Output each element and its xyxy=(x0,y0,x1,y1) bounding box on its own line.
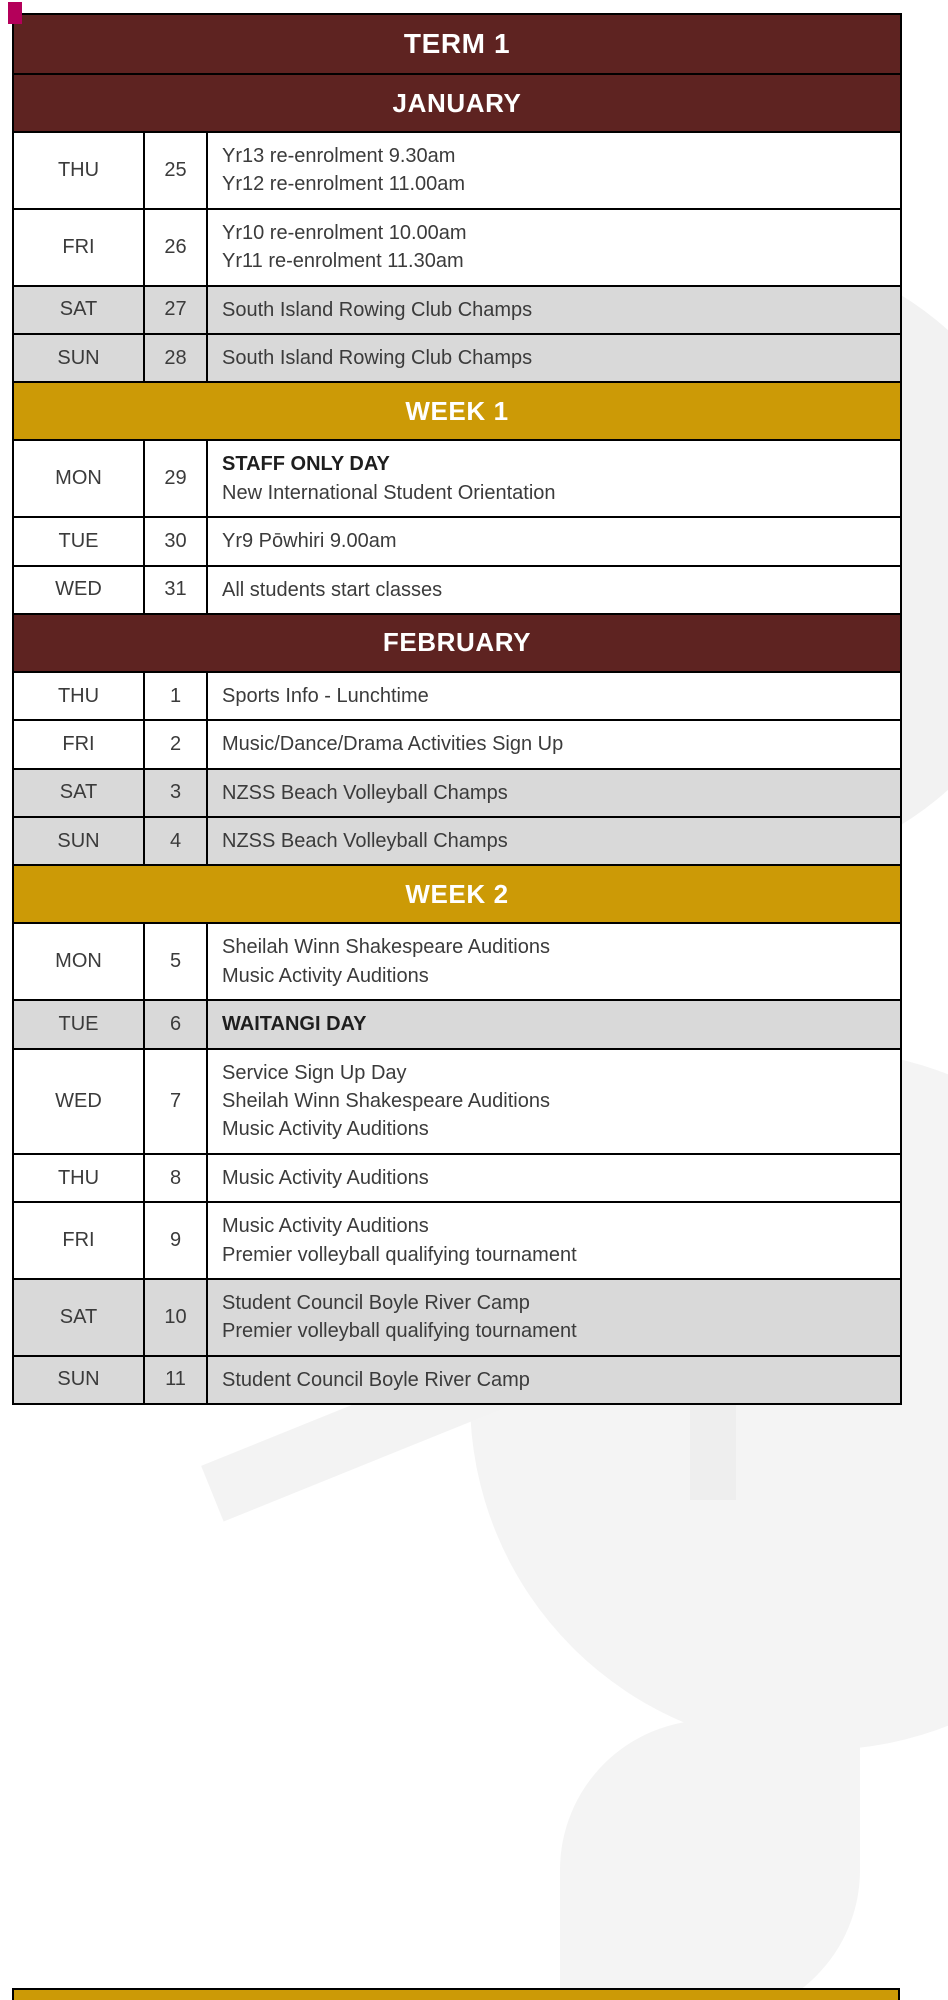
events-cell: NZSS Beach Volleyball Champs xyxy=(207,817,901,865)
term-header-row: TERM 1 xyxy=(13,14,901,74)
event-line: Music Activity Auditions xyxy=(222,1164,900,1192)
event-line: Student Council Boyle River Camp xyxy=(222,1366,900,1394)
week-label: WEEK 1 xyxy=(13,382,901,440)
calendar-day-row: SUN28South Island Rowing Club Champs xyxy=(13,334,901,382)
event-line: Music Activity Auditions xyxy=(222,1115,900,1143)
date-number-cell: 7 xyxy=(144,1049,207,1154)
event-line: Sports Info - Lunchtime xyxy=(222,682,900,710)
watermark-swoosh xyxy=(560,1720,860,2000)
date-number-cell: 4 xyxy=(144,817,207,865)
events-cell: NZSS Beach Volleyball Champs xyxy=(207,769,901,817)
event-line: Music/Dance/Drama Activities Sign Up xyxy=(222,730,900,758)
date-number-cell: 5 xyxy=(144,923,207,1000)
month-label: JANUARY xyxy=(13,74,901,132)
calendar-day-row: TUE6WAITANGI DAY xyxy=(13,1000,901,1048)
date-number-cell: 11 xyxy=(144,1356,207,1404)
calendar-day-row: FRI2Music/Dance/Drama Activities Sign Up xyxy=(13,720,901,768)
calendar-day-row: SAT10Student Council Boyle River CampPre… xyxy=(13,1279,901,1356)
event-line: STAFF ONLY DAY xyxy=(222,450,900,478)
date-number-cell: 26 xyxy=(144,209,207,286)
month-header-row: JANUARY xyxy=(13,74,901,132)
calendar-day-row: THU25Yr13 re-enrolment 9.30amYr12 re-enr… xyxy=(13,132,901,209)
events-cell: Yr10 re-enrolment 10.00amYr11 re-enrolme… xyxy=(207,209,901,286)
events-cell: Student Council Boyle River Camp xyxy=(207,1356,901,1404)
calendar-table-wrapper: TERM 1 JANUARYTHU25Yr13 re-enrolment 9.3… xyxy=(12,13,900,1405)
event-line: Premier volleyball qualifying tournament xyxy=(222,1241,900,1269)
event-line: Sheilah Winn Shakespeare Auditions xyxy=(222,933,900,961)
day-of-week-cell: THU xyxy=(13,1154,144,1202)
day-of-week-cell: FRI xyxy=(13,209,144,286)
calendar-day-row: WED31All students start classes xyxy=(13,566,901,614)
event-line: WAITANGI DAY xyxy=(222,1010,900,1038)
events-cell: Yr9 Pōwhiri 9.00am xyxy=(207,517,901,565)
corner-marker xyxy=(8,2,22,24)
day-of-week-cell: TUE xyxy=(13,517,144,565)
day-of-week-cell: SUN xyxy=(13,817,144,865)
date-number-cell: 9 xyxy=(144,1202,207,1279)
event-line: Yr9 Pōwhiri 9.00am xyxy=(222,527,900,555)
date-number-cell: 6 xyxy=(144,1000,207,1048)
calendar-day-row: SAT3NZSS Beach Volleyball Champs xyxy=(13,769,901,817)
calendar-day-row: FRI9Music Activity AuditionsPremier voll… xyxy=(13,1202,901,1279)
event-line: All students start classes xyxy=(222,576,900,604)
term-title: TERM 1 xyxy=(13,14,901,74)
events-cell: South Island Rowing Club Champs xyxy=(207,334,901,382)
month-label: FEBRUARY xyxy=(13,614,901,672)
calendar-day-row: THU1Sports Info - Lunchtime xyxy=(13,672,901,720)
calendar-page: TERM 1 JANUARYTHU25Yr13 re-enrolment 9.3… xyxy=(0,0,948,2000)
date-number-cell: 1 xyxy=(144,672,207,720)
day-of-week-cell: MON xyxy=(13,923,144,1000)
event-line: New International Student Orientation xyxy=(222,479,900,507)
event-line: NZSS Beach Volleyball Champs xyxy=(222,779,900,807)
day-of-week-cell: SAT xyxy=(13,1279,144,1356)
event-line: South Island Rowing Club Champs xyxy=(222,296,900,324)
date-number-cell: 25 xyxy=(144,132,207,209)
month-header-row: FEBRUARY xyxy=(13,614,901,672)
event-line: Yr13 re-enrolment 9.30am xyxy=(222,142,900,170)
day-of-week-cell: TUE xyxy=(13,1000,144,1048)
events-cell: STAFF ONLY DAYNew International Student … xyxy=(207,440,901,517)
events-cell: South Island Rowing Club Champs xyxy=(207,286,901,334)
event-line: Premier volleyball qualifying tournament xyxy=(222,1317,900,1345)
event-line: Music Activity Auditions xyxy=(222,962,900,990)
events-cell: Music/Dance/Drama Activities Sign Up xyxy=(207,720,901,768)
calendar-day-row: SUN4NZSS Beach Volleyball Champs xyxy=(13,817,901,865)
event-line: Yr11 re-enrolment 11.30am xyxy=(222,247,900,275)
events-cell: Music Activity AuditionsPremier volleyba… xyxy=(207,1202,901,1279)
term-calendar-table: TERM 1 JANUARYTHU25Yr13 re-enrolment 9.3… xyxy=(12,13,902,1405)
events-cell: Service Sign Up DaySheilah Winn Shakespe… xyxy=(207,1049,901,1154)
date-number-cell: 27 xyxy=(144,286,207,334)
event-line: Yr12 re-enrolment 11.00am xyxy=(222,170,900,198)
events-cell: All students start classes xyxy=(207,566,901,614)
date-number-cell: 3 xyxy=(144,769,207,817)
events-cell: WAITANGI DAY xyxy=(207,1000,901,1048)
day-of-week-cell: FRI xyxy=(13,720,144,768)
date-number-cell: 8 xyxy=(144,1154,207,1202)
date-number-cell: 30 xyxy=(144,517,207,565)
week-label: WEEK 2 xyxy=(13,865,901,923)
next-week-banner-partial xyxy=(12,1988,900,2000)
event-line: Sheilah Winn Shakespeare Auditions xyxy=(222,1087,900,1115)
date-number-cell: 28 xyxy=(144,334,207,382)
day-of-week-cell: THU xyxy=(13,672,144,720)
events-cell: Yr13 re-enrolment 9.30amYr12 re-enrolmen… xyxy=(207,132,901,209)
day-of-week-cell: MON xyxy=(13,440,144,517)
day-of-week-cell: SUN xyxy=(13,1356,144,1404)
events-cell: Sheilah Winn Shakespeare AuditionsMusic … xyxy=(207,923,901,1000)
events-cell: Sports Info - Lunchtime xyxy=(207,672,901,720)
event-line: Yr10 re-enrolment 10.00am xyxy=(222,219,900,247)
date-number-cell: 31 xyxy=(144,566,207,614)
date-number-cell: 10 xyxy=(144,1279,207,1356)
day-of-week-cell: WED xyxy=(13,1049,144,1154)
calendar-day-row: MON29STAFF ONLY DAYNew International Stu… xyxy=(13,440,901,517)
day-of-week-cell: SAT xyxy=(13,769,144,817)
calendar-day-row: SAT27South Island Rowing Club Champs xyxy=(13,286,901,334)
events-cell: Student Council Boyle River CampPremier … xyxy=(207,1279,901,1356)
week-header-row: WEEK 2 xyxy=(13,865,901,923)
calendar-day-row: FRI26Yr10 re-enrolment 10.00amYr11 re-en… xyxy=(13,209,901,286)
calendar-day-row: TUE30Yr9 Pōwhiri 9.00am xyxy=(13,517,901,565)
calendar-day-row: THU8Music Activity Auditions xyxy=(13,1154,901,1202)
day-of-week-cell: FRI xyxy=(13,1202,144,1279)
event-line: Service Sign Up Day xyxy=(222,1059,900,1087)
calendar-day-row: WED7Service Sign Up DaySheilah Winn Shak… xyxy=(13,1049,901,1154)
date-number-cell: 29 xyxy=(144,440,207,517)
calendar-day-row: SUN11Student Council Boyle River Camp xyxy=(13,1356,901,1404)
events-cell: Music Activity Auditions xyxy=(207,1154,901,1202)
event-line: Student Council Boyle River Camp xyxy=(222,1289,900,1317)
day-of-week-cell: SUN xyxy=(13,334,144,382)
event-line: NZSS Beach Volleyball Champs xyxy=(222,827,900,855)
week-header-row: WEEK 1 xyxy=(13,382,901,440)
day-of-week-cell: WED xyxy=(13,566,144,614)
day-of-week-cell: THU xyxy=(13,132,144,209)
event-line: South Island Rowing Club Champs xyxy=(222,344,900,372)
event-line: Music Activity Auditions xyxy=(222,1212,900,1240)
calendar-day-row: MON5Sheilah Winn Shakespeare AuditionsMu… xyxy=(13,923,901,1000)
date-number-cell: 2 xyxy=(144,720,207,768)
day-of-week-cell: SAT xyxy=(13,286,144,334)
